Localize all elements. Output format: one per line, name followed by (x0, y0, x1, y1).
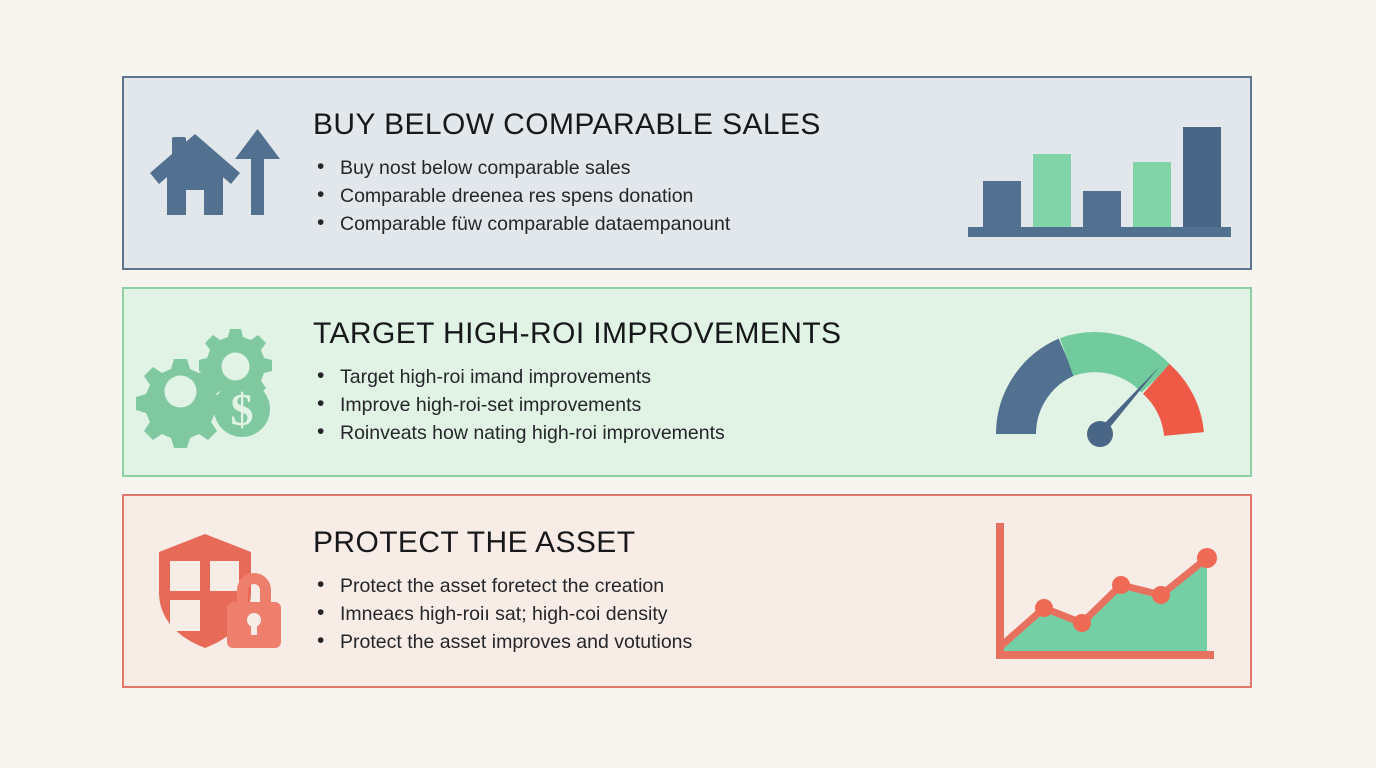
card-target-high-roi-improvements[interactable]: $ TARGET HIGH-ROI IMPROVEMENTS Target hi… (122, 287, 1252, 477)
data-point (1035, 599, 1053, 617)
list-item: Target high-roi imand improvements (313, 363, 940, 391)
svg-text:$: $ (230, 384, 253, 435)
house-with-up-arrow-icon (124, 78, 309, 268)
bar-chart (950, 78, 1250, 268)
gauge-hub (1087, 421, 1113, 447)
list-item: Protect the asset improves and votutions (313, 628, 940, 656)
card-protect-the-asset[interactable]: PROTECT THE ASSET Protect the asset fore… (122, 494, 1252, 688)
bar (1033, 154, 1071, 227)
bullet-list: Protect the asset foretect the creation … (313, 572, 940, 656)
axis-baseline (968, 227, 1231, 237)
data-point (1152, 586, 1170, 604)
card-title: PROTECT THE ASSET (313, 526, 940, 560)
y-axis (996, 523, 1004, 656)
card-body: PROTECT THE ASSET Protect the asset fore… (309, 526, 950, 657)
list-item: Improve high-roi-set improvements (313, 391, 940, 419)
card-body: TARGET HIGH-ROI IMPROVEMENTS Target high… (309, 317, 950, 448)
list-item: Buy nost below comparable sales (313, 154, 940, 182)
infographic-board: BUY BELOW COMPARABLE SALES Buy nost belo… (0, 0, 1376, 768)
bullet-list: Buy nost below comparable sales Comparab… (313, 154, 940, 238)
list-item: Comparable dreenea res spens donation (313, 182, 940, 210)
gauge-segment-mid (1067, 352, 1157, 379)
area-fill (1001, 558, 1207, 655)
list-item: Protect the asset foretect the creation (313, 572, 940, 600)
gears-with-dollar-coin-icon: $ (124, 289, 309, 475)
data-point (1197, 548, 1217, 568)
card-buy-below-comparable-sales[interactable]: BUY BELOW COMPARABLE SALES Buy nost belo… (122, 76, 1252, 270)
list-item: Roinveats how nating high-roi improvemen… (313, 419, 940, 447)
list-item: Imneaєs high-roiı sat; high-coi density (313, 600, 940, 628)
gauge-segment-high (1156, 379, 1184, 434)
card-body: BUY BELOW COMPARABLE SALES Buy nost belo… (309, 108, 950, 239)
card-title: TARGET HIGH-ROI IMPROVEMENTS (313, 317, 940, 351)
area-line-chart (950, 496, 1250, 686)
gauge-meter (950, 289, 1250, 475)
x-axis (996, 651, 1214, 659)
bar (1133, 162, 1171, 227)
gauge-segment-low (1016, 357, 1067, 434)
list-item: Comparable füw comparable dataempanount (313, 210, 940, 238)
shield-with-padlock-icon (124, 496, 309, 686)
card-title: BUY BELOW COMPARABLE SALES (313, 108, 940, 142)
data-point (1073, 614, 1091, 632)
bar (1083, 191, 1121, 227)
bullet-list: Target high-roi imand improvements Impro… (313, 363, 940, 447)
data-point (1112, 576, 1130, 594)
bar (1183, 127, 1221, 227)
bar (983, 181, 1021, 227)
